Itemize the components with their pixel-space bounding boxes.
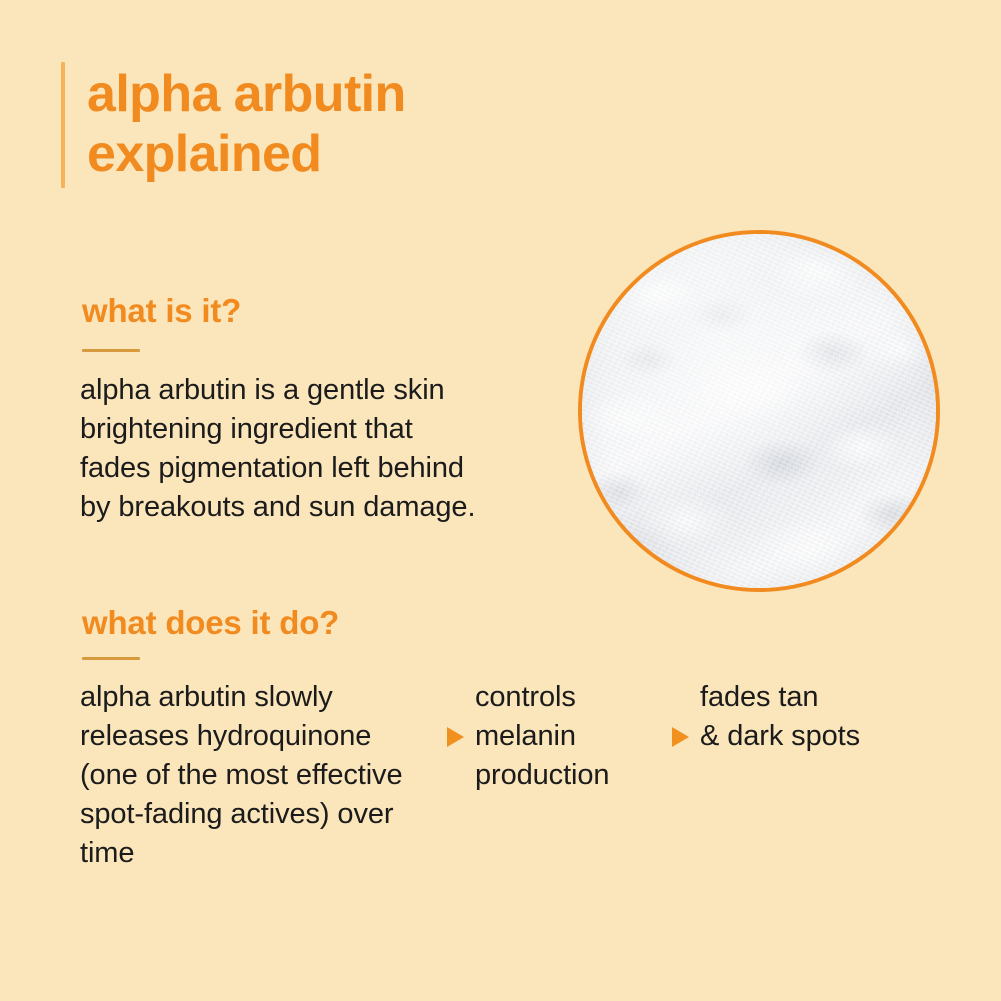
benefit-item-dark-spots: fades tan & dark spots: [700, 678, 905, 756]
benefit-item-mechanism: alpha arbutin slowly releases hydroquino…: [80, 678, 435, 873]
powder-shading-overlay: [582, 234, 936, 588]
benefits-row: alpha arbutin slowly releases hydroquino…: [80, 678, 950, 873]
section-heading-what-does-it-do: what does it do?: [82, 604, 339, 642]
triangle-right-icon: [660, 717, 700, 756]
title-accent-bar: [61, 62, 65, 188]
section-divider-what-does-it-do: [82, 657, 140, 660]
page-title: alpha arbutin explained: [87, 62, 406, 188]
benefit-item-melanin: controls melanin production: [475, 678, 660, 795]
infographic-canvas: alpha arbutin explained what is it? alph…: [0, 0, 1001, 1001]
triangle-right-icon: [435, 717, 475, 756]
section-divider-what-is-it: [82, 349, 140, 352]
section-heading-what-is-it: what is it?: [82, 292, 241, 330]
page-title-block: alpha arbutin explained: [61, 62, 406, 188]
alpha-arbutin-powder-photo: [578, 230, 940, 592]
section-body-what-is-it: alpha arbutin is a gentle skin brighteni…: [80, 371, 510, 527]
